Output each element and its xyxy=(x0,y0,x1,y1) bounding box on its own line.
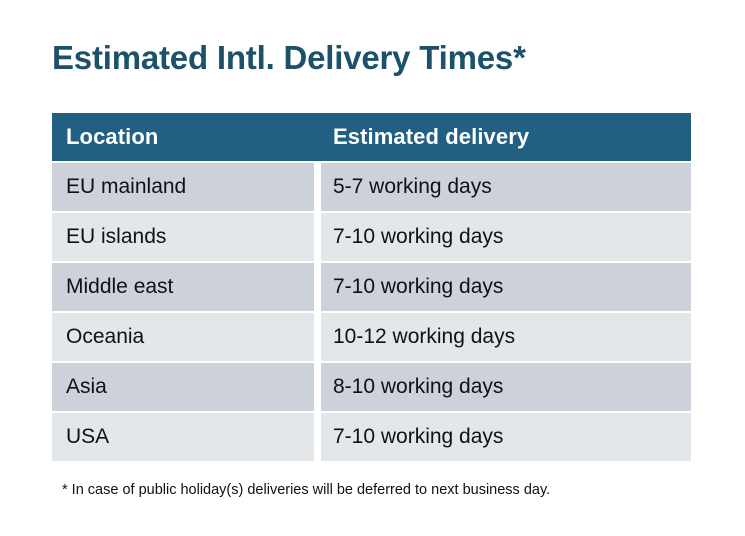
table-row: EU islands 7-10 working days xyxy=(52,213,691,261)
column-header-location: Location xyxy=(52,113,314,161)
table-row: Asia 8-10 working days xyxy=(52,363,691,411)
cell-estimated-delivery: 5-7 working days xyxy=(321,163,691,211)
column-divider xyxy=(314,413,321,461)
footnote-text: * In case of public holiday(s) deliverie… xyxy=(62,480,550,500)
column-divider xyxy=(314,263,321,311)
delivery-times-page: Estimated Intl. Delivery Times* Location… xyxy=(0,0,745,536)
cell-location: USA xyxy=(52,413,314,461)
column-divider xyxy=(314,313,321,361)
cell-location: Oceania xyxy=(52,313,314,361)
table-row: Middle east 7-10 working days xyxy=(52,263,691,311)
cell-estimated-delivery: 7-10 working days xyxy=(321,263,691,311)
table-row: USA 7-10 working days xyxy=(52,413,691,461)
column-divider xyxy=(314,113,321,161)
column-divider xyxy=(314,363,321,411)
column-divider xyxy=(314,163,321,211)
cell-location: EU mainland xyxy=(52,163,314,211)
cell-estimated-delivery: 7-10 working days xyxy=(321,213,691,261)
table-row: EU mainland 5-7 working days xyxy=(52,163,691,211)
cell-location: EU islands xyxy=(52,213,314,261)
table-header-row: Location Estimated delivery xyxy=(52,113,691,161)
column-header-estimated-delivery: Estimated delivery xyxy=(321,113,691,161)
cell-location: Middle east xyxy=(52,263,314,311)
page-title: Estimated Intl. Delivery Times* xyxy=(52,36,526,80)
table-row: Oceania 10-12 working days xyxy=(52,313,691,361)
cell-estimated-delivery: 7-10 working days xyxy=(321,413,691,461)
delivery-times-table: Location Estimated delivery EU mainland … xyxy=(52,113,691,463)
cell-estimated-delivery: 8-10 working days xyxy=(321,363,691,411)
cell-estimated-delivery: 10-12 working days xyxy=(321,313,691,361)
cell-location: Asia xyxy=(52,363,314,411)
column-divider xyxy=(314,213,321,261)
